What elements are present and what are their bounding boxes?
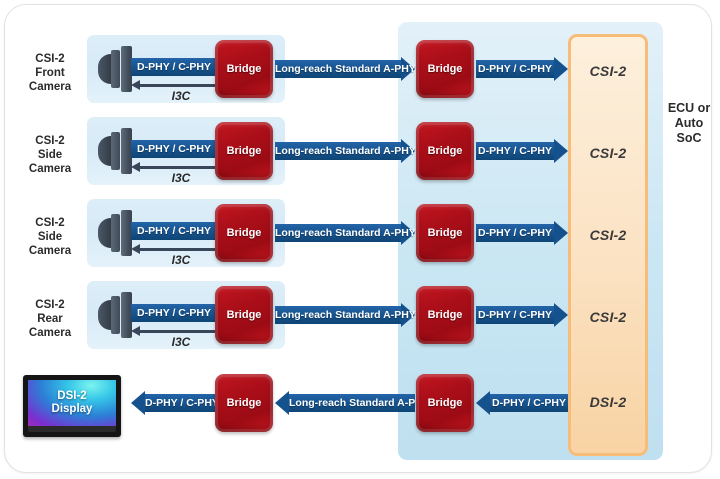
right-bridge-3: Bridge [416, 204, 474, 262]
arrow-head-right-icon [554, 221, 568, 245]
i3c-line [138, 84, 224, 87]
bridge-label: Bridge [428, 397, 463, 409]
long-reach-arrow-3: Long-reach Standard A-PHY [275, 224, 401, 242]
soc-link-label-1: D-PHY / C-PHY [476, 60, 554, 78]
local-link-arrow-2: D-PHY / C-PHY [131, 140, 217, 158]
display-label-line2: Display [52, 403, 93, 416]
long-reach-label-1: Long-reach Standard A-PHY [275, 60, 401, 78]
local-link-arrow-5: D-PHY / C-PHY [145, 394, 217, 412]
bridge-label: Bridge [227, 145, 262, 157]
local-link-label-2: D-PHY / C-PHY [131, 140, 217, 158]
row-label-line1: CSI-2 [17, 216, 83, 230]
display-label-line1: DSI-2 [52, 390, 93, 403]
ecu-label-line3: SoC [659, 131, 719, 146]
row-label-line3: Camera [17, 244, 83, 258]
local-link-label-5: D-PHY / C-PHY [145, 394, 217, 412]
long-reach-label-4: Long-reach Standard A-PHY [275, 306, 401, 324]
diagram-card: CSI-2 CSI-2 CSI-2 CSI-2 DSI-2 ECU or Aut… [4, 4, 712, 473]
local-link-label-1: D-PHY / C-PHY [131, 58, 217, 76]
arrow-head-right-icon [554, 57, 568, 81]
soc-port-label-3: CSI-2 [568, 227, 648, 245]
bridge-label: Bridge [428, 227, 463, 239]
arrow-head-right-icon [554, 139, 568, 163]
ecu-label-line2: Auto [659, 116, 719, 131]
soc-link-label-2: D-PHY / C-PHY [476, 142, 554, 160]
row-label-line1: CSI-2 [17, 134, 83, 148]
ecu-label-line1: ECU or [659, 101, 719, 116]
long-reach-label-2: Long-reach Standard A-PHY [275, 142, 401, 160]
soc-link-label-3: D-PHY / C-PHY [476, 224, 554, 242]
bridge-label: Bridge [428, 63, 463, 75]
soc-link-label-4: D-PHY / C-PHY [476, 306, 554, 324]
row-label-side-camera-1: CSI-2 Side Camera [17, 134, 83, 176]
right-bridge-4: Bridge [416, 286, 474, 344]
long-reach-arrow-2: Long-reach Standard A-PHY [275, 142, 401, 160]
ecu-label: ECU or Auto SoC [659, 101, 719, 146]
diagram-canvas: CSI-2 CSI-2 CSI-2 CSI-2 DSI-2 ECU or Aut… [0, 0, 720, 479]
long-reach-arrow-5: Long-reach Standard A-PHY [289, 394, 415, 412]
arrow-head-left-icon [131, 391, 145, 415]
left-bridge-3: Bridge [215, 204, 273, 262]
display-bezel-base [28, 426, 116, 432]
bridge-label: Bridge [227, 397, 262, 409]
long-reach-label-5: Long-reach Standard A-PHY [289, 394, 415, 412]
row-label-line3: Camera [17, 162, 83, 176]
soc-interface-column [568, 34, 648, 456]
soc-link-arrow-3: D-PHY / C-PHY [476, 224, 554, 242]
row-label-line2: Side [17, 230, 83, 244]
bridge-label: Bridge [227, 309, 262, 321]
row-label-line3: Camera [17, 326, 83, 340]
row-label-line1: CSI-2 [17, 52, 83, 66]
camera-body-front-icon [111, 296, 120, 334]
i3c-line [138, 248, 224, 251]
dsi2-display: DSI-2 Display [23, 375, 121, 437]
soc-port-label-5: DSI-2 [568, 394, 648, 412]
local-link-label-4: D-PHY / C-PHY [131, 304, 217, 322]
row-label-line2: Front [17, 66, 83, 80]
local-link-arrow-4: D-PHY / C-PHY [131, 304, 217, 322]
camera-body-front-icon [111, 132, 120, 170]
row-label-line3: Camera [17, 80, 83, 94]
bridge-label: Bridge [428, 145, 463, 157]
local-link-arrow-3: D-PHY / C-PHY [131, 222, 217, 240]
soc-link-arrow-2: D-PHY / C-PHY [476, 142, 554, 160]
row-label-line2: Side [17, 148, 83, 162]
soc-link-label-5: D-PHY / C-PHY [490, 394, 568, 412]
arrow-head-right-icon [554, 303, 568, 327]
left-bridge-1: Bridge [215, 40, 273, 98]
long-reach-arrow-4: Long-reach Standard A-PHY [275, 306, 401, 324]
display-label: DSI-2 Display [52, 390, 93, 416]
camera-body-front-icon [111, 50, 120, 88]
local-link-label-3: D-PHY / C-PHY [131, 222, 217, 240]
i3c-line [138, 330, 224, 333]
camera-body-front-icon [111, 214, 120, 252]
row-label-line1: CSI-2 [17, 298, 83, 312]
bridge-label: Bridge [428, 309, 463, 321]
soc-port-label-1: CSI-2 [568, 63, 648, 81]
right-bridge-5: Bridge [416, 374, 474, 432]
soc-port-label-2: CSI-2 [568, 145, 648, 163]
display-screen: DSI-2 Display [28, 380, 116, 426]
bridge-label: Bridge [227, 63, 262, 75]
row-label-side-camera-2: CSI-2 Side Camera [17, 216, 83, 258]
long-reach-label-3: Long-reach Standard A-PHY [275, 224, 401, 242]
soc-link-arrow-1: D-PHY / C-PHY [476, 60, 554, 78]
long-reach-arrow-1: Long-reach Standard A-PHY [275, 60, 401, 78]
arrow-head-left-icon [476, 391, 490, 415]
right-bridge-2: Bridge [416, 122, 474, 180]
row-label-front-camera: CSI-2 Front Camera [17, 52, 83, 94]
left-bridge-4: Bridge [215, 286, 273, 344]
right-bridge-1: Bridge [416, 40, 474, 98]
left-bridge-2: Bridge [215, 122, 273, 180]
left-bridge-5: Bridge [215, 374, 273, 432]
soc-link-arrow-5: D-PHY / C-PHY [490, 394, 568, 412]
arrow-head-left-icon [275, 391, 289, 415]
i3c-line [138, 166, 224, 169]
row-label-line2: Rear [17, 312, 83, 326]
row-label-rear-camera: CSI-2 Rear Camera [17, 298, 83, 340]
bridge-label: Bridge [227, 227, 262, 239]
local-link-arrow-1: D-PHY / C-PHY [131, 58, 217, 76]
soc-link-arrow-4: D-PHY / C-PHY [476, 306, 554, 324]
soc-port-label-4: CSI-2 [568, 309, 648, 327]
